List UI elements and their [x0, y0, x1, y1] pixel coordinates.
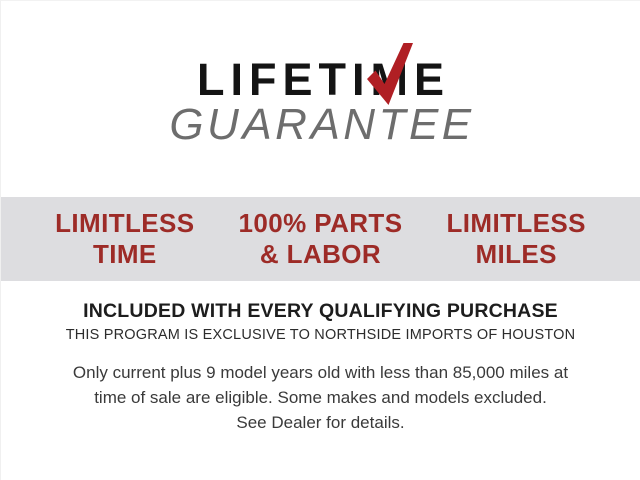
feature-parts-and-labor: 100% PARTS & LABOR: [223, 208, 419, 270]
feature-2-line-2: & LABOR: [223, 239, 419, 270]
feature-band: LIMITLESS TIME 100% PARTS & LABOR LIMITL…: [1, 197, 640, 281]
feature-2-line-1: 100% PARTS: [223, 208, 419, 239]
feature-1-line-1: LIMITLESS: [27, 208, 223, 239]
subheadline: THIS PROGRAM IS EXCLUSIVE TO NORTHSIDE I…: [21, 326, 620, 345]
logo-block: LIFETIME GUARANTEE: [1, 1, 640, 197]
feature-limitless-time: LIMITLESS TIME: [27, 208, 223, 270]
feature-limitless-miles: LIMITLESS MILES: [418, 208, 614, 270]
logo-lockup: LIFETIME GUARANTEE: [166, 57, 474, 148]
feature-3-line-1: LIMITLESS: [418, 208, 614, 239]
lifetime-guarantee-ad: LIFETIME GUARANTEE LIMITLESS TIME 100% P…: [0, 0, 640, 480]
logo-wordmark-lifetime: LIFETIME: [166, 57, 474, 103]
fineprint: Only current plus 9 model years old with…: [21, 360, 620, 435]
fineprint-line-1: Only current plus 9 model years old with…: [21, 360, 620, 385]
fineprint-line-3: See Dealer for details.: [21, 410, 620, 435]
headline: INCLUDED WITH EVERY QUALIFYING PURCHASE: [21, 299, 620, 323]
feature-3-line-2: MILES: [418, 239, 614, 270]
fineprint-line-2: time of sale are eligible. Some makes an…: [21, 385, 620, 410]
feature-1-line-2: TIME: [27, 239, 223, 270]
copy-block: INCLUDED WITH EVERY QUALIFYING PURCHASE …: [1, 281, 640, 480]
logo-wordmark-guarantee: GUARANTEE: [166, 101, 474, 148]
